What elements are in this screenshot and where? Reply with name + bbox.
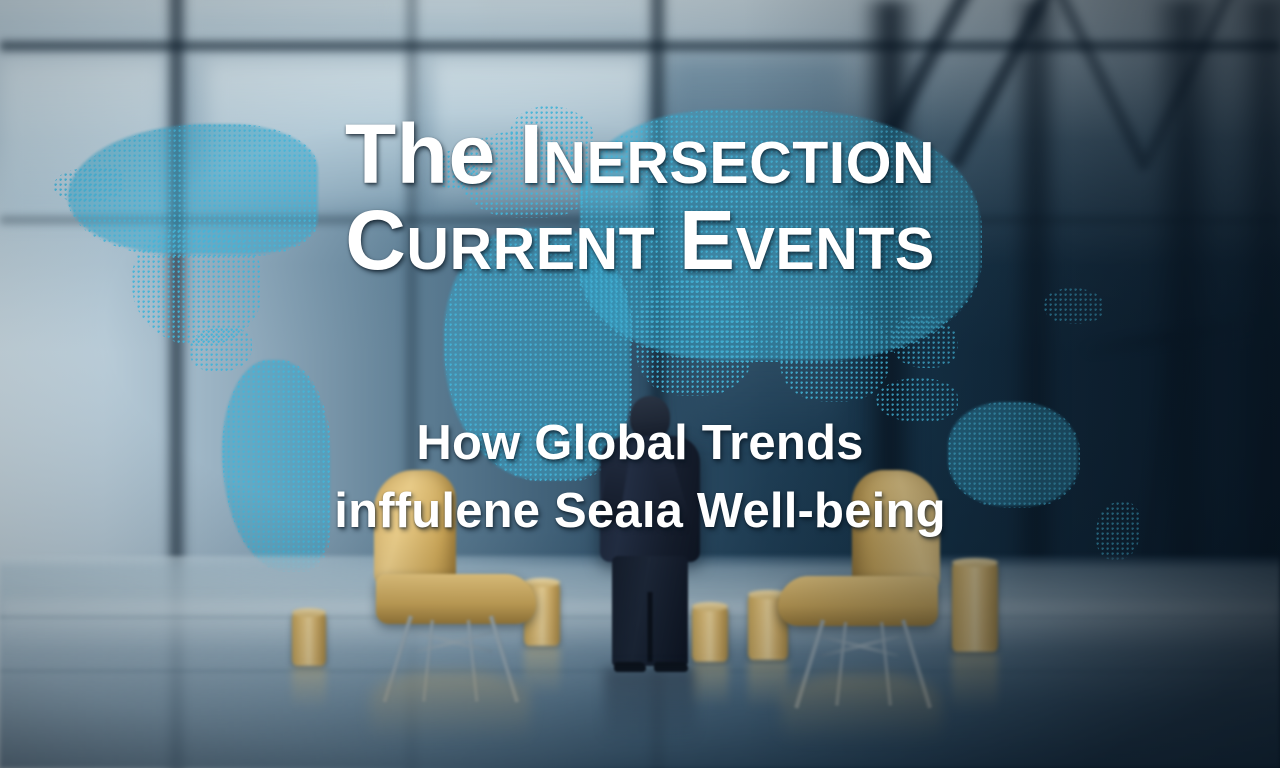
person-reflection [604, 668, 696, 742]
landmass-philippines [892, 316, 958, 368]
landmass-india [636, 280, 756, 396]
title-lead-word: The [345, 107, 496, 201]
window-pane [0, 0, 170, 38]
cylinder-prop [292, 612, 326, 666]
title-line-1: The Inersection [0, 112, 1280, 198]
landmass-central-america [190, 328, 252, 372]
landmass-japan [1044, 288, 1104, 324]
landmass-southeast-asia [780, 306, 890, 402]
title-main-word: Inersection [520, 107, 936, 201]
cylinder-reflection [292, 666, 326, 710]
page-subtitle: How Global Trends inffulene Seaıa Well-b… [0, 410, 1280, 545]
chair-reflection-right [782, 674, 942, 744]
window-pane [400, 0, 650, 36]
title-card-image: The Inersection Current Events How Globa… [0, 0, 1280, 768]
subtitle-line-1: How Global Trends [0, 410, 1280, 478]
page-title: The Inersection Current Events [0, 112, 1280, 283]
chair-reflection-left [370, 672, 530, 742]
title-line-2: Current Events [0, 198, 1280, 284]
subtitle-line-2: inffulene Seaıa Well-being [0, 478, 1280, 546]
